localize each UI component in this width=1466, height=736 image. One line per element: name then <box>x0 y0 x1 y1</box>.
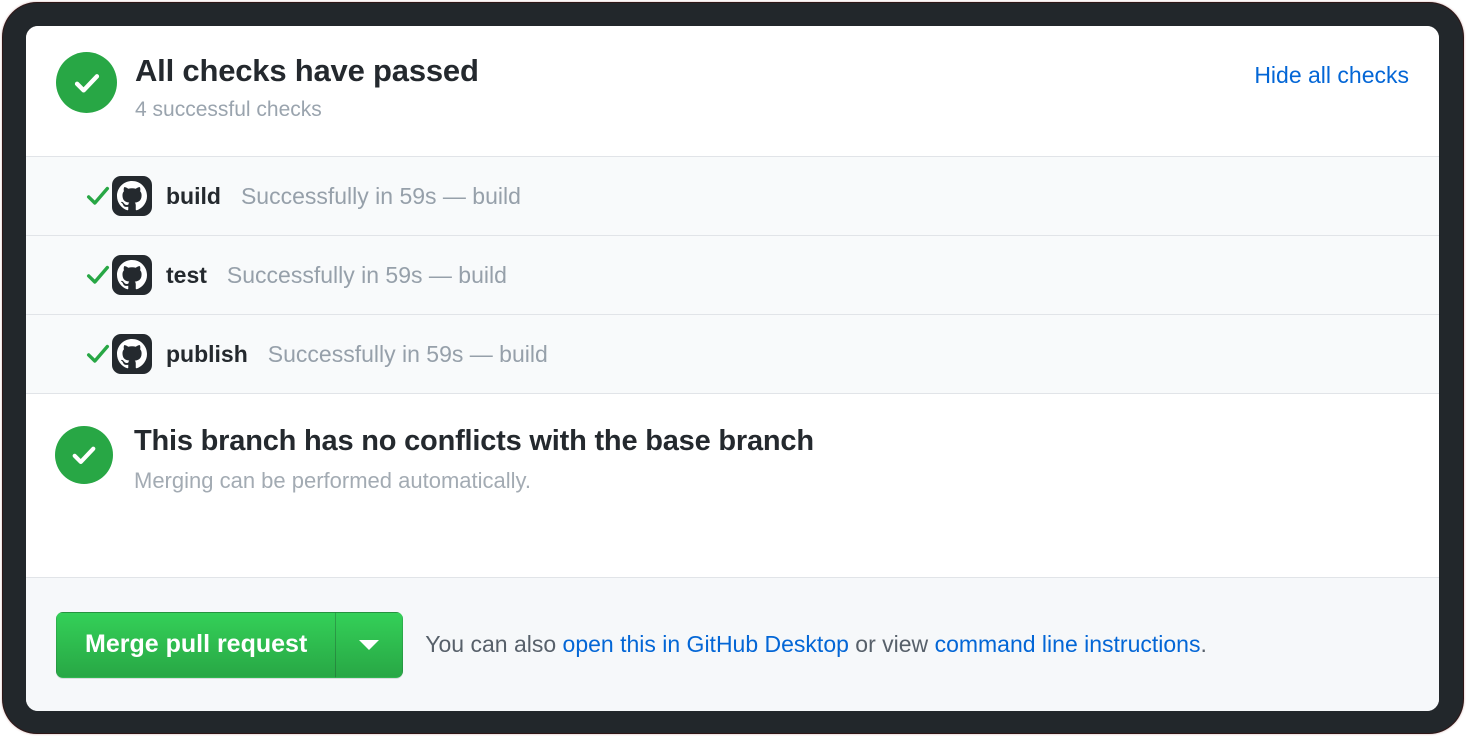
check-name: publish <box>166 341 248 368</box>
conflicts-title: This branch has no conflicts with the ba… <box>134 424 814 459</box>
check-description: Successfully in 59s — build <box>268 341 548 368</box>
check-icon <box>56 340 112 368</box>
github-octocat-icon <box>112 255 152 295</box>
check-description: Successfully in 59s — build <box>227 262 507 289</box>
checks-subtitle: 4 successful checks <box>135 95 479 125</box>
check-icon <box>56 182 112 210</box>
help-text-prefix: You can also <box>425 631 562 657</box>
open-in-github-desktop-link[interactable]: open this in GitHub Desktop <box>563 631 849 657</box>
page-title: All checks have passed <box>135 53 479 90</box>
merge-footer: Merge pull request You can also open thi… <box>26 577 1439 711</box>
check-description: Successfully in 59s — build <box>241 183 521 210</box>
device-bezel: All checks have passed 4 successful chec… <box>3 3 1463 733</box>
check-icon <box>56 261 112 289</box>
check-name: build <box>166 183 221 210</box>
check-circle-icon <box>55 426 113 484</box>
check-row-publish[interactable]: publish Successfully in 59s — build <box>26 315 1439 394</box>
hide-all-checks-link[interactable]: Hide all checks <box>1254 62 1409 89</box>
check-name: test <box>166 262 207 289</box>
help-text-suffix: . <box>1200 631 1206 657</box>
checks-list: build Successfully in 59s — build test S… <box>26 156 1439 394</box>
github-octocat-icon <box>112 176 152 216</box>
merge-options-dropdown-button[interactable] <box>335 612 403 678</box>
merge-help-text: You can also open this in GitHub Desktop… <box>425 631 1207 658</box>
command-line-instructions-link[interactable]: command line instructions <box>935 631 1201 657</box>
merge-status-box: All checks have passed 4 successful chec… <box>26 26 1439 711</box>
check-row-build[interactable]: build Successfully in 59s — build <box>26 157 1439 236</box>
check-row-test[interactable]: test Successfully in 59s — build <box>26 236 1439 315</box>
merge-pull-request-button[interactable]: Merge pull request <box>56 612 335 678</box>
conflicts-subtitle: Merging can be performed automatically. <box>134 467 814 496</box>
branch-conflicts-text: This branch has no conflicts with the ba… <box>134 424 814 495</box>
help-text-middle: or view <box>849 631 935 657</box>
checks-header-text: All checks have passed 4 successful chec… <box>135 52 479 125</box>
check-circle-icon <box>56 52 117 113</box>
github-octocat-icon <box>112 334 152 374</box>
merge-button-group: Merge pull request <box>56 612 403 678</box>
checks-header: All checks have passed 4 successful chec… <box>26 26 1439 156</box>
chevron-down-icon <box>359 640 379 650</box>
branch-conflicts-section: This branch has no conflicts with the ba… <box>26 394 1439 577</box>
